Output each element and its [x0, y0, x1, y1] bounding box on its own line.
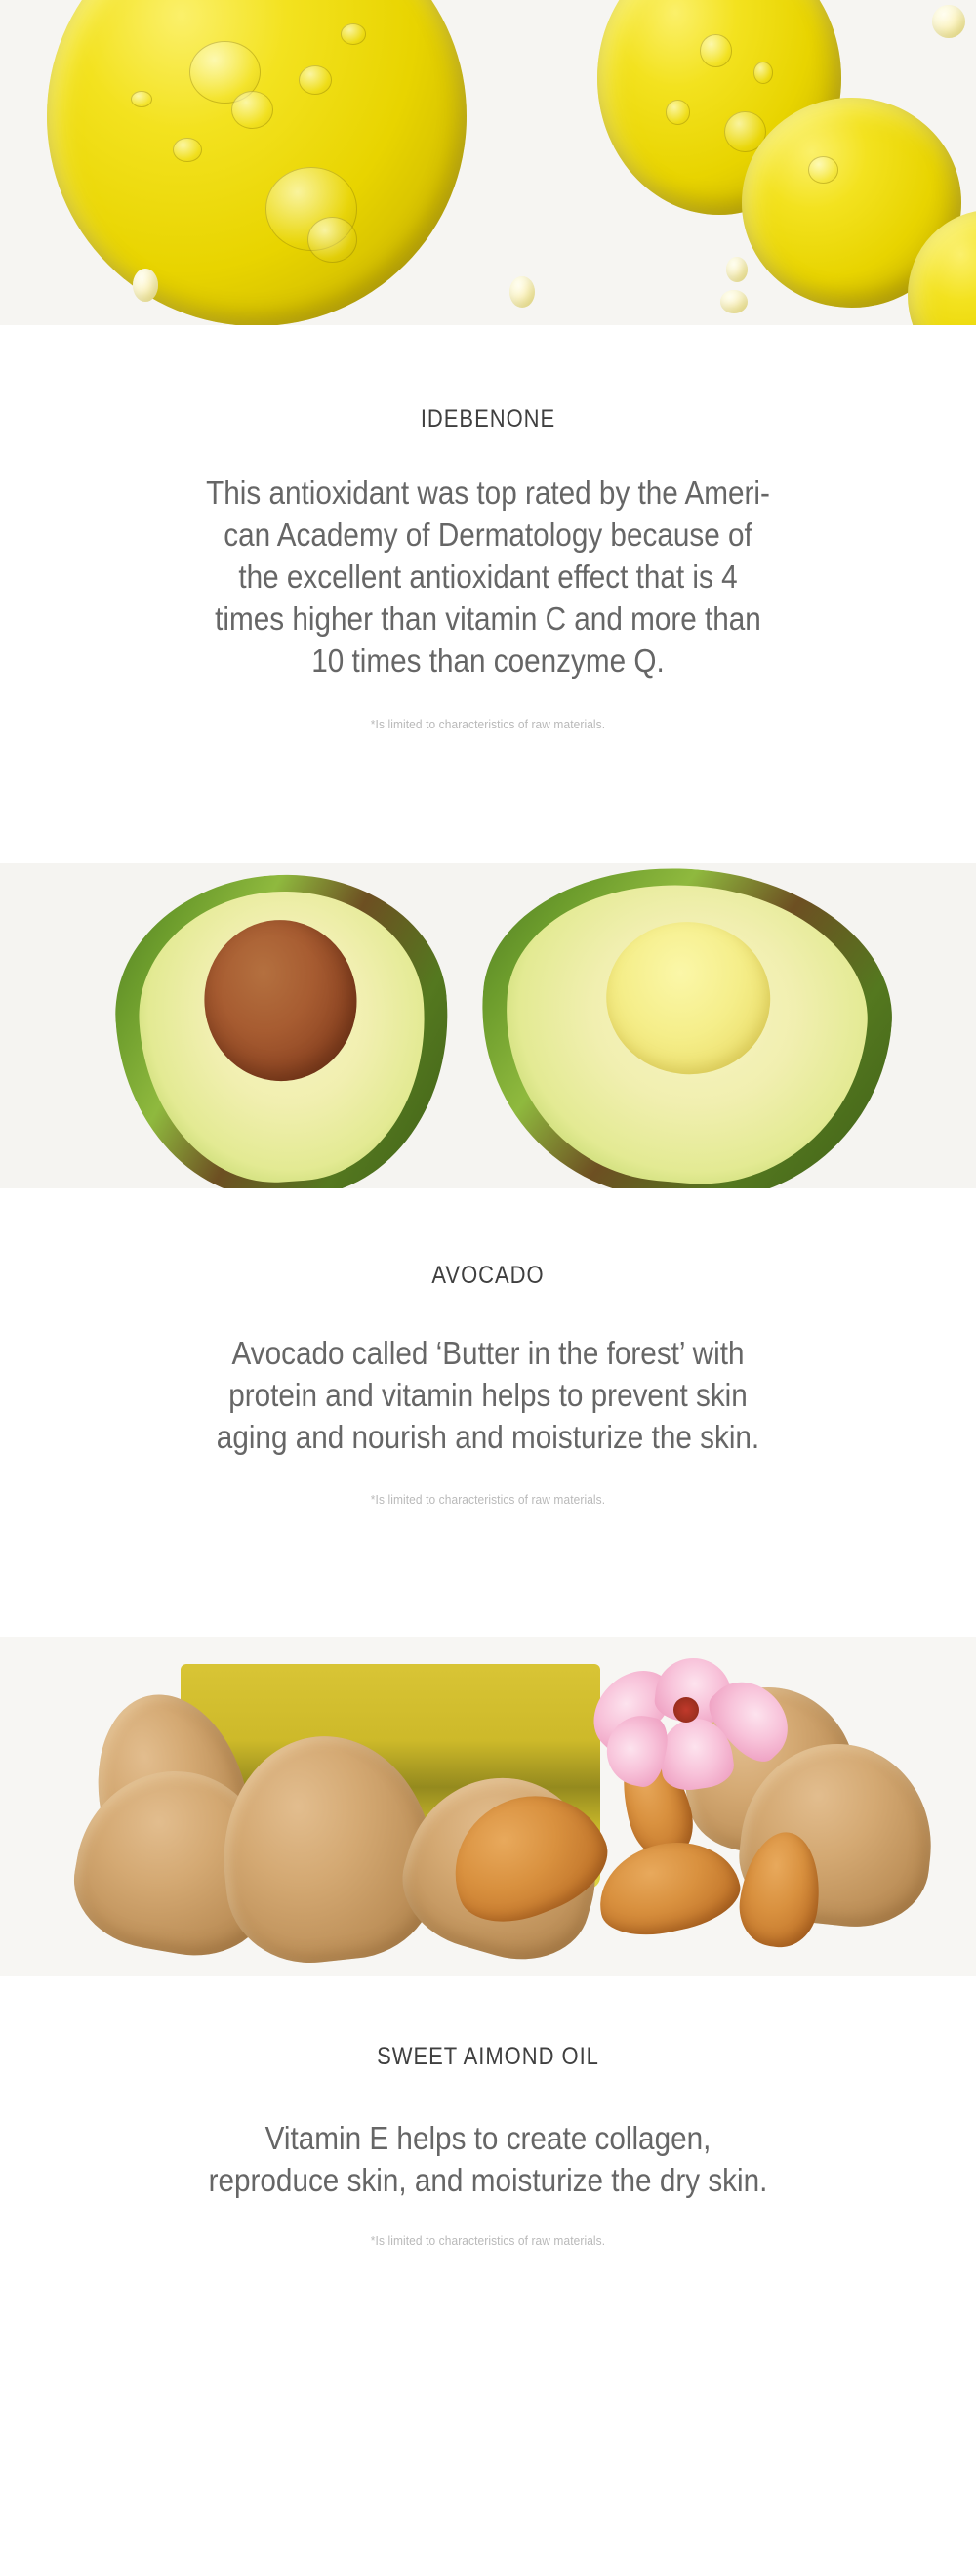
ingredient-description-avocado: Avocado called ‘Butter in the forest’ wi… — [93, 1290, 883, 1459]
ingredient-title-idebenone: IDEBENONE — [59, 325, 917, 434]
bubble-icon — [131, 91, 152, 107]
bubble-icon — [753, 62, 773, 83]
oil-droplet-small — [932, 5, 965, 38]
almond-text-block: SWEET AIMOND OIL Vitamin E helps to crea… — [0, 1976, 976, 2394]
bubble-icon — [666, 100, 690, 124]
avocado-text-block: AVOCADO Avocado called ‘Butter in the fo… — [0, 1188, 976, 1637]
oil-droplet-small — [509, 276, 535, 308]
almond-scene — [0, 1637, 976, 1976]
bubble-icon — [808, 156, 839, 184]
ingredient-description-idebenone: This antioxidant was top rated by the Am… — [93, 434, 883, 682]
bubble-icon — [231, 91, 273, 129]
blossom-center — [673, 1697, 699, 1723]
oil-droplet-small — [726, 257, 748, 282]
oil-droplets-scene — [0, 0, 976, 325]
section-sweet-almond-oil: SWEET AIMOND OIL Vitamin E helps to crea… — [0, 1637, 976, 2394]
ingredient-note-sweet-almond-oil: *Is limited to characteristics of raw ma… — [39, 2202, 937, 2394]
avocado-halves-photo — [0, 863, 976, 1188]
ingredient-title-sweet-almond-oil: SWEET AIMOND OIL — [59, 1976, 917, 2071]
idebenone-text-block: IDEBENONE This antioxidant was top rated… — [0, 325, 976, 863]
avocado-half-with-pit — [106, 864, 460, 1188]
bubble-icon — [173, 138, 202, 163]
avocado-scene — [0, 863, 976, 1188]
bubble-icon — [341, 23, 366, 45]
bubble-icon — [307, 217, 358, 263]
section-avocado: AVOCADO Avocado called ‘Butter in the fo… — [0, 863, 976, 1637]
ingredient-detail-page: IDEBENONE This antioxidant was top rated… — [0, 0, 976, 2394]
ingredient-description-sweet-almond-oil: Vitamin E helps to create collagen, repr… — [93, 2071, 883, 2202]
oil-droplet-small — [133, 269, 158, 302]
oil-droplets-photo — [0, 0, 976, 325]
oil-droplet-small — [720, 290, 748, 313]
ingredient-note-idebenone: *Is limited to characteristics of raw ma… — [39, 682, 937, 863]
avocado-half-pitless — [467, 863, 904, 1188]
ingredient-title-avocado: AVOCADO — [59, 1188, 917, 1290]
almonds-and-blossom-photo — [0, 1637, 976, 1976]
section-idebenone: IDEBENONE This antioxidant was top rated… — [0, 0, 976, 863]
bubble-icon — [700, 34, 732, 67]
ingredient-note-avocado: *Is limited to characteristics of raw ma… — [39, 1459, 937, 1637]
bubble-icon — [299, 65, 332, 95]
